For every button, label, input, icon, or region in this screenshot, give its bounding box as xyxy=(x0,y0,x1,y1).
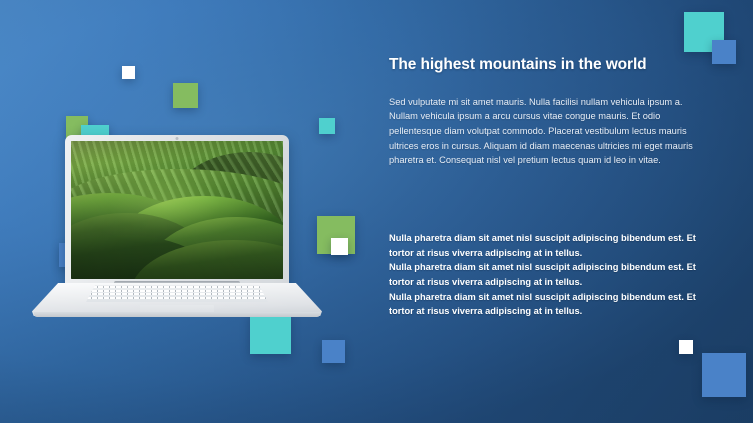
highlight-paragraph: Nulla pharetra diam sit amet nisl suscip… xyxy=(389,260,699,289)
laptop-keyboard xyxy=(86,285,268,302)
laptop-lid xyxy=(65,135,289,289)
highlight-paragraph: Nulla pharetra diam sit amet nisl suscip… xyxy=(389,290,699,319)
laptop-base-front-edge xyxy=(34,312,320,317)
square-blue-bottom xyxy=(322,340,345,363)
presentation-slide: The highest mountains in the world Sed v… xyxy=(0,0,753,423)
square-green-upper-left xyxy=(173,83,198,108)
laptop-screen xyxy=(71,141,283,279)
laptop-mockup xyxy=(32,135,322,321)
square-white-bottom-right xyxy=(679,340,693,354)
text-column: The highest mountains in the world Sed v… xyxy=(389,56,695,168)
highlights-block: Nulla pharetra diam sit amet nisl suscip… xyxy=(389,231,699,319)
page-title: The highest mountains in the world xyxy=(389,56,695,75)
square-white-right-mid xyxy=(331,238,348,255)
square-blue-top-right xyxy=(712,40,736,64)
square-blue-bottom-right xyxy=(702,353,746,397)
highlight-paragraph: Nulla pharetra diam sit amet nisl suscip… xyxy=(389,231,699,260)
square-teal-mid xyxy=(319,118,335,134)
body-paragraph: Sed vulputate mi sit amet mauris. Nulla … xyxy=(389,95,695,168)
square-white-top-left xyxy=(122,66,135,79)
webcam-icon xyxy=(176,137,179,140)
photo-shadow-overlay xyxy=(71,141,283,279)
mountain-photo xyxy=(71,141,283,279)
